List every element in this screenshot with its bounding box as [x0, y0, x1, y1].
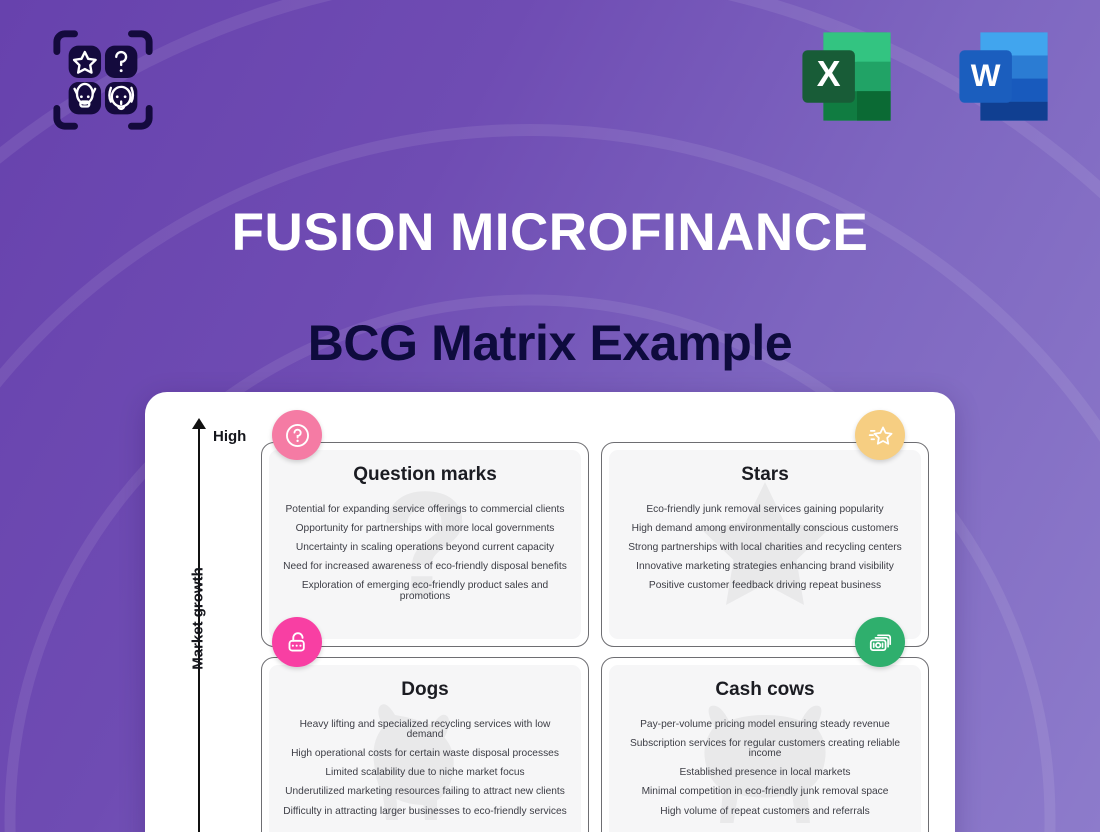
list-item: Positive customer feedback driving repea… — [619, 577, 911, 596]
quadrant-grid: ? Question marks Potential for expanding… — [261, 442, 929, 832]
quadrant-title: Cash cows — [619, 679, 911, 701]
list-item: Exploration of emerging eco-friendly pro… — [279, 577, 571, 606]
quadrant-item-list: Potential for expanding service offering… — [279, 500, 571, 606]
quadrant-title: Dogs — [279, 679, 571, 701]
banknotes-icon — [867, 629, 894, 656]
badge-stars[interactable] — [855, 410, 905, 460]
brand-title: FUSION MICROFINANCE — [0, 206, 1100, 259]
word-icon-letter: W — [971, 57, 1001, 93]
bcg-matrix-card: High Market growth ? Question marks Pote… — [145, 392, 955, 832]
list-item: Underutilized marketing resources failin… — [279, 783, 571, 802]
y-axis-title: Market growth — [190, 549, 207, 689]
badge-cash-cows[interactable] — [855, 617, 905, 667]
list-item: Difficulty in attracting larger business… — [279, 802, 571, 821]
question-mark-icon — [284, 422, 311, 449]
list-item: Subscription services for regular custom… — [619, 734, 911, 763]
list-item: High volume of repeat customers and refe… — [619, 802, 911, 821]
bcg-matrix-logo-icon — [48, 26, 158, 134]
quadrant-title: Question marks — [279, 464, 571, 486]
list-item: Strong partnerships with local charities… — [619, 538, 911, 557]
list-item: Innovative marketing strategies enhancin… — [619, 558, 911, 577]
lock-icon — [284, 629, 311, 656]
list-item: Need for increased awareness of eco-frie… — [279, 558, 571, 577]
slide-canvas: X W FUSION MICROFINANCE BCG Matrix Examp… — [0, 0, 1100, 832]
list-item: Opportunity for partnerships with more l… — [279, 519, 571, 538]
word-icon[interactable]: W — [951, 24, 1056, 129]
y-axis-high-label: High — [213, 428, 246, 445]
quadrant-cash-cows[interactable]: Cash cows Pay-per-volume pricing model e… — [601, 657, 929, 832]
list-item: Uncertainty in scaling operations beyond… — [279, 538, 571, 557]
quadrant-item-list: Heavy lifting and specialized recycling … — [279, 715, 571, 821]
list-item: Heavy lifting and specialized recycling … — [279, 715, 571, 744]
list-item: Minimal competition in eco-friendly junk… — [619, 783, 911, 802]
list-item: High operational costs for certain waste… — [279, 744, 571, 763]
list-item: Potential for expanding service offering… — [279, 500, 571, 519]
quadrant-title: Stars — [619, 464, 911, 486]
list-item: Established presence in local markets — [619, 764, 911, 783]
quadrant-question-marks[interactable]: ? Question marks Potential for expanding… — [261, 442, 589, 647]
quadrant-item-list: Eco-friendly junk removal services gaini… — [619, 500, 911, 596]
star-icon — [867, 422, 894, 449]
list-item: Pay-per-volume pricing model ensuring st… — [619, 715, 911, 734]
list-item: Eco-friendly junk removal services gaini… — [619, 500, 911, 519]
excel-icon-letter: X — [817, 54, 841, 94]
list-item: Limited scalability due to niche market … — [279, 764, 571, 783]
page-title: BCG Matrix Example — [0, 315, 1100, 373]
quadrant-item-list: Pay-per-volume pricing model ensuring st… — [619, 715, 911, 821]
export-format-icons: X W — [794, 24, 1056, 129]
list-item: High demand among environmentally consci… — [619, 519, 911, 538]
quadrant-dogs[interactable]: Dogs Heavy lifting and specialized recyc… — [261, 657, 589, 832]
excel-icon[interactable]: X — [794, 24, 899, 129]
badge-dogs[interactable] — [272, 617, 322, 667]
badge-question-marks[interactable] — [272, 410, 322, 460]
